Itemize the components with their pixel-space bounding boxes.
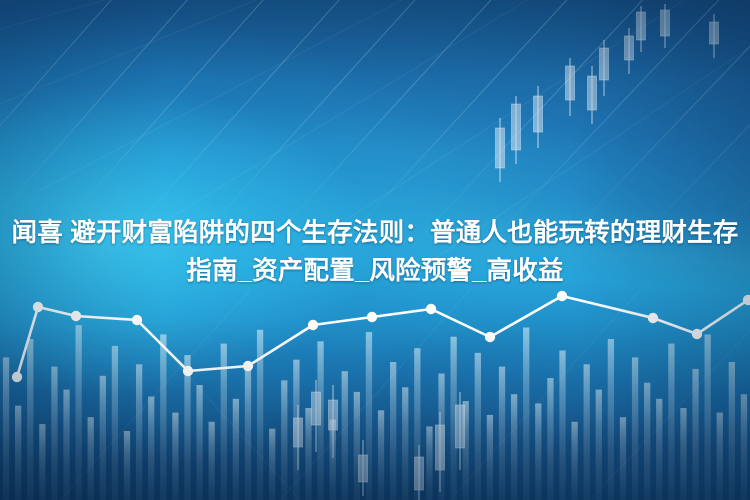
banner-image: 闻喜 避开财富陷阱的四个生存法则：普通人也能玩转的理财生存 指南_资产配置_风险… (0, 0, 750, 500)
title-line-1: 闻喜 避开财富陷阱的四个生存法则：普通人也能玩转的理财生存 (2, 214, 748, 252)
page-title: 闻喜 避开财富陷阱的四个生存法则：普通人也能玩转的理财生存 指南_资产配置_风险… (0, 214, 750, 290)
title-line-2: 指南_资产配置_风险预警_高收益 (2, 252, 748, 290)
